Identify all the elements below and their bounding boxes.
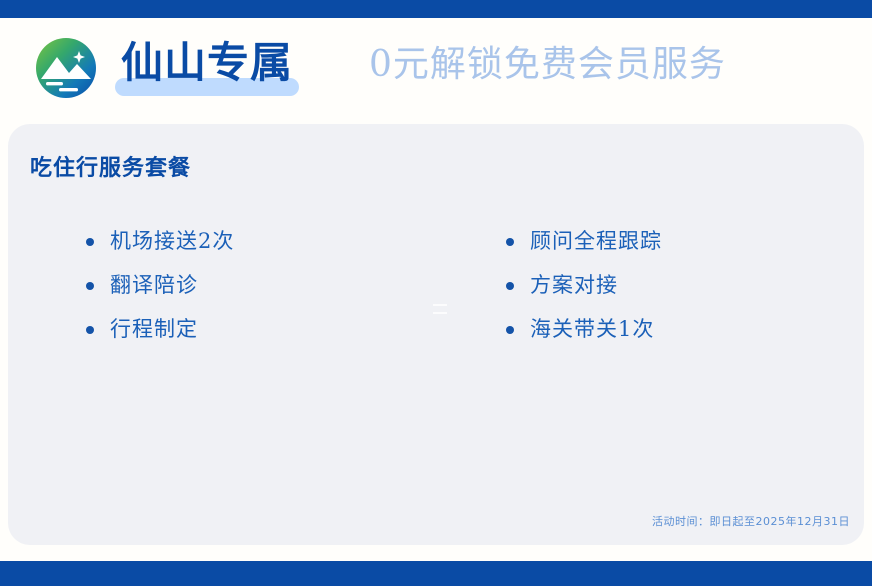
bottom-accent-bar bbox=[0, 561, 872, 586]
column-divider-mark bbox=[433, 304, 447, 314]
header-subtitle: 0元解锁免费会员服务 bbox=[369, 43, 726, 93]
feature-list-right: 顾问全程跟踪 方案对接 海关带关1次 bbox=[502, 228, 864, 342]
mountain-sparkle-logo-icon bbox=[35, 37, 97, 99]
panel-title: 吃住行服务套餐 bbox=[30, 150, 191, 182]
brand-name: 仙山专属 bbox=[115, 38, 299, 98]
top-accent-bar bbox=[0, 0, 872, 18]
list-item: 方案对接 bbox=[502, 272, 864, 298]
list-item: 行程制定 bbox=[82, 316, 436, 342]
service-package-panel: 吃住行服务套餐 机场接送2次 翻译陪诊 行程制定 顾问全程跟踪 方案对接 海关带… bbox=[8, 124, 864, 545]
feature-column-left: 机场接送2次 翻译陪诊 行程制定 bbox=[8, 228, 436, 360]
list-item: 顾问全程跟踪 bbox=[502, 228, 864, 254]
feature-list-left: 机场接送2次 翻译陪诊 行程制定 bbox=[82, 228, 436, 342]
brand-name-label: 仙山专属 bbox=[121, 38, 293, 88]
list-item: 翻译陪诊 bbox=[82, 272, 436, 298]
promo-period-note: 活动时间：即日起至2025年12月31日 bbox=[652, 513, 850, 529]
list-item: 机场接送2次 bbox=[82, 228, 436, 254]
list-item: 海关带关1次 bbox=[502, 316, 864, 342]
page-header: 仙山专属 0元解锁免费会员服务 bbox=[0, 18, 872, 118]
feature-columns: 机场接送2次 翻译陪诊 行程制定 顾问全程跟踪 方案对接 海关带关1次 bbox=[8, 228, 864, 360]
feature-column-right: 顾问全程跟踪 方案对接 海关带关1次 bbox=[436, 228, 864, 360]
